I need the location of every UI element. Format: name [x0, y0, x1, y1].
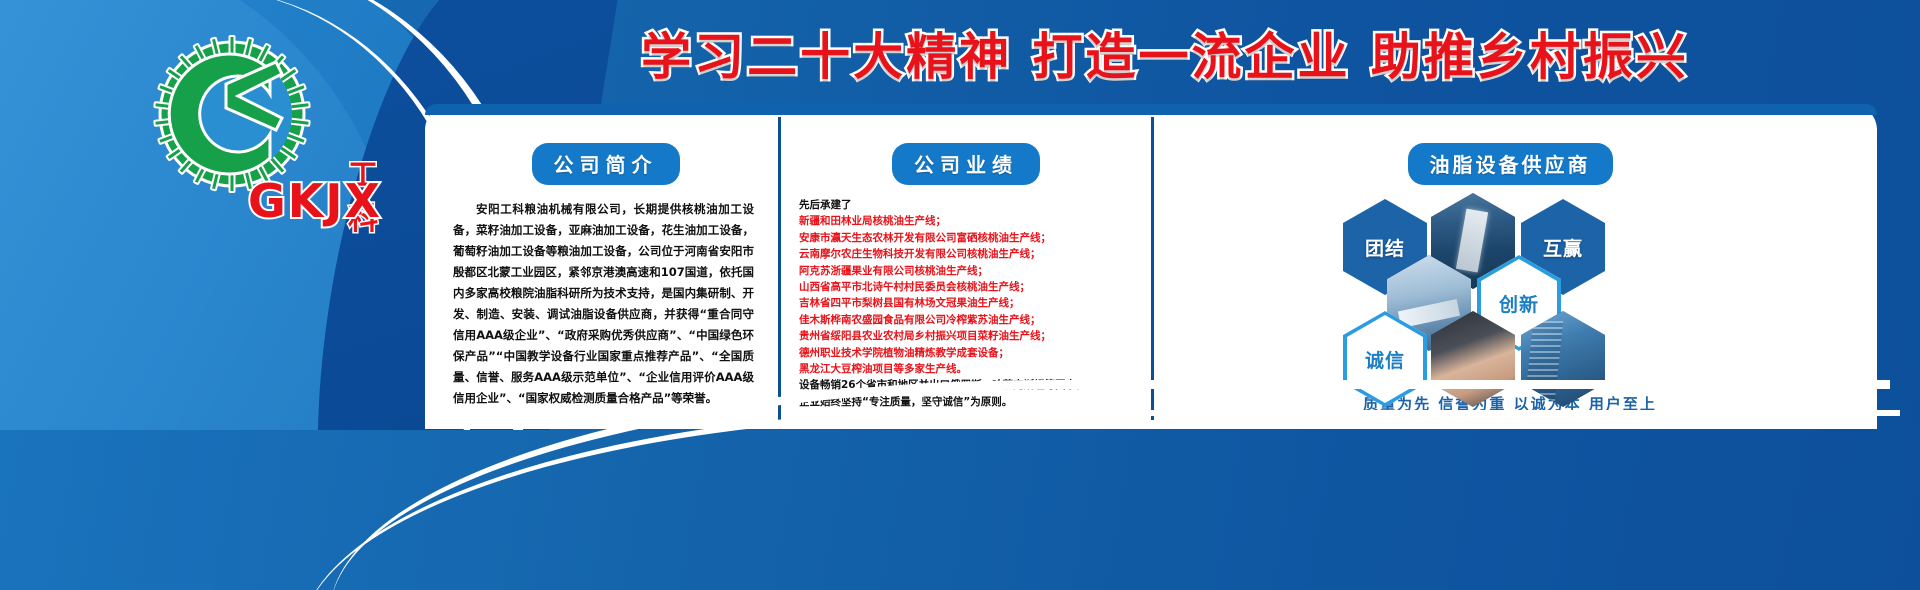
hex-label: 诚信 [1365, 346, 1405, 373]
performance-item: 云南摩尔农庄生物科技开发有限公司核桃油生产线； [799, 246, 1137, 262]
panel-title-supplier: 油脂设备供应商 [1408, 143, 1613, 185]
content-columns: 公司简介 安阳工科粮油机械有限公司，长期提供核桃油加工设备，菜籽油加工设备，亚麻… [433, 115, 1869, 422]
hex-label: 互赢 [1543, 234, 1583, 261]
performance-item: 新疆和田林业局核桃油生产线； [799, 213, 1137, 229]
company-logo: 工科 GKJX [120, 22, 350, 212]
performance-item: 吉林省四平市梨树县国有林场文冠果油生产线； [799, 295, 1137, 311]
performance-item: 阿克苏浙疆果业有限公司核桃油生产线； [799, 263, 1137, 279]
panel-title-performance: 公司业绩 [892, 143, 1040, 185]
poster-headline: 学习二十大精神 打造一流企业 助推乡村振兴 [430, 14, 1900, 92]
content-sheet-top-bar [425, 104, 1877, 115]
company-intro-body: 安阳工科粮油机械有限公司，长期提供核桃油加工设备，菜籽油加工设备，亚麻油加工设备… [453, 199, 754, 409]
hex-cluster: 团结 互赢 创新 诚信 [1335, 193, 1685, 383]
panel-company-intro: 公司简介 安阳工科粮油机械有限公司，长期提供核桃油加工设备，菜籽油加工设备，亚麻… [433, 115, 778, 422]
performance-body: 先后承建了 新疆和田林业局核桃油生产线； 安康市瀛天生态农林开发有限公司富硒核桃… [799, 197, 1137, 410]
panel-performance: 公司业绩 先后承建了 新疆和田林业局核桃油生产线； 安康市瀛天生态农林开发有限公… [781, 115, 1151, 422]
hex-label: 创新 [1499, 290, 1539, 317]
logo-en-text: GKJX [248, 174, 382, 228]
performance-item: 佳木斯桦南农盛园食品有限公司冷榨紫苏油生产线； [799, 312, 1137, 328]
performance-item: 德州职业技术学院植物油精炼教学成套设备； [799, 345, 1137, 361]
panel-supplier: 油脂设备供应商 团结 互赢 创新 [1154, 115, 1866, 422]
performance-lead: 先后承建了 [799, 197, 1137, 213]
performance-item: 贵州省绥阳县农业农村局乡村振兴项目菜籽油生产线； [799, 328, 1137, 344]
panel-title-company-intro: 公司简介 [532, 143, 680, 185]
poster-canvas: 工科 GKJX 学习二十大精神 打造一流企业 助推乡村振兴 公司简介 安阳工科粮… [0, 0, 1920, 590]
hex-label: 团结 [1365, 234, 1405, 261]
performance-item: 山西省高平市北诗午村村民委员会核桃油生产线； [799, 279, 1137, 295]
performance-item: 黑龙江大豆榨油项目等多家生产线。 [799, 361, 1137, 377]
performance-item: 安康市瀛天生态农林开发有限公司富硒核桃油生产线； [799, 230, 1137, 246]
headline-text: 学习二十大精神 打造一流企业 助推乡村振兴 [641, 17, 1689, 89]
